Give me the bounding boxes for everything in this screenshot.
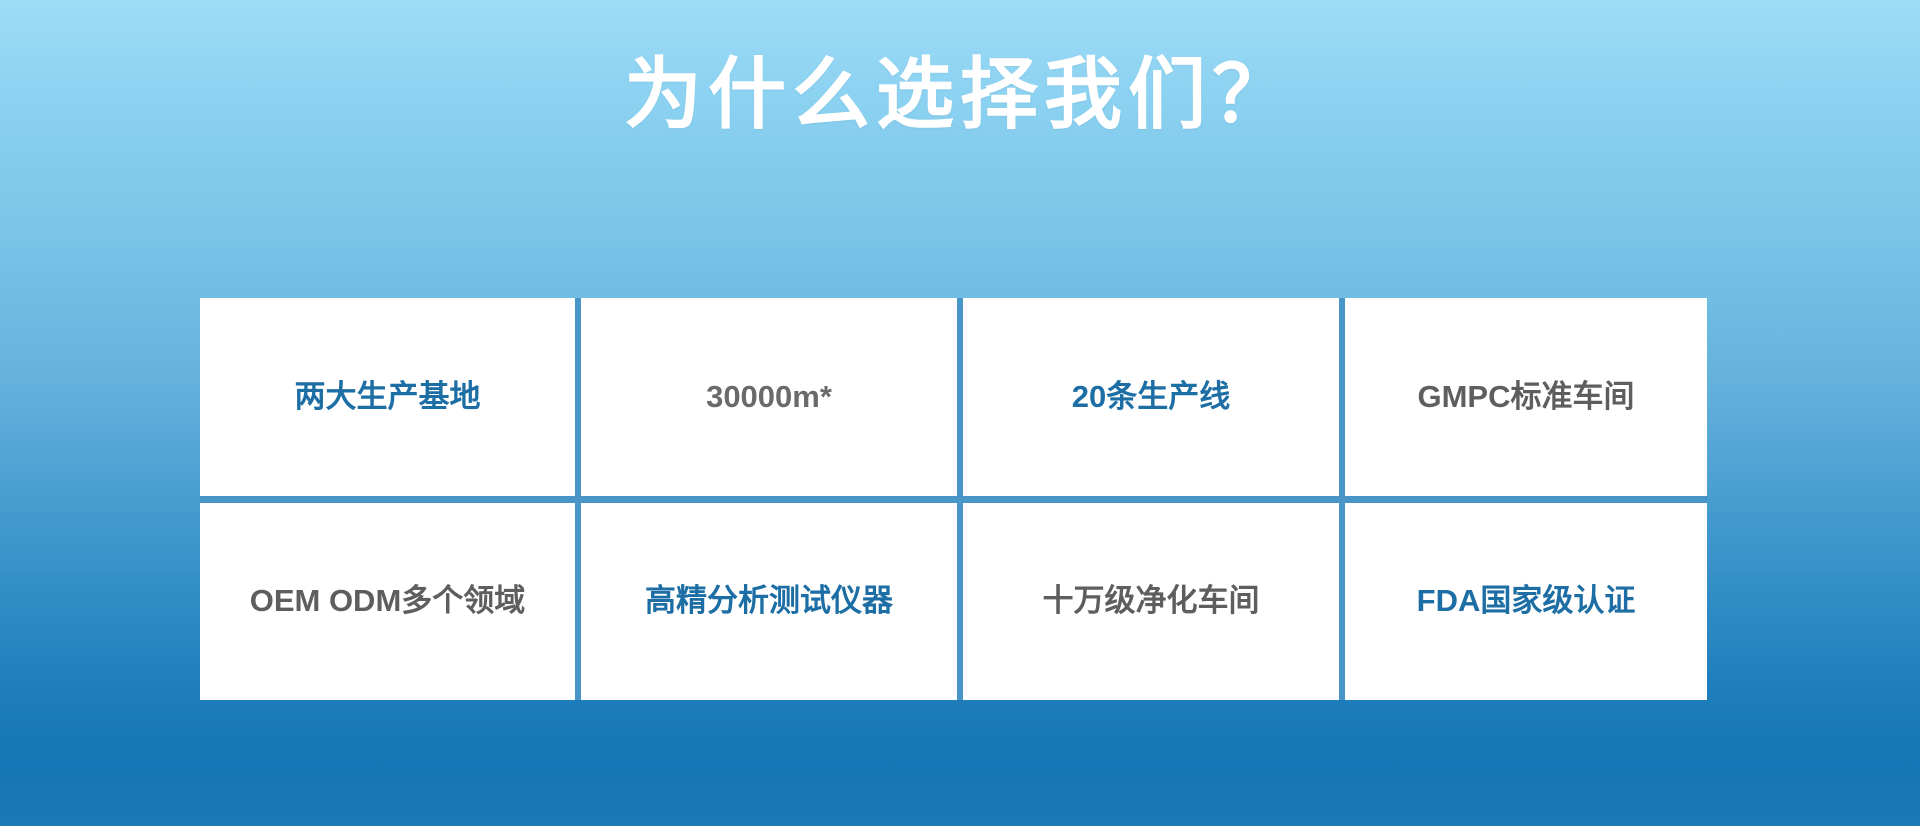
feature-cell-production-lines[interactable]: 20条生产线	[963, 298, 1339, 496]
feature-cell-gmpc-workshop[interactable]: GMPC标准车间	[1345, 298, 1707, 496]
page-title: 为什么选择我们？	[0, 46, 1920, 144]
row-divider	[200, 496, 1707, 503]
table-row: OEM ODM多个领域 高精分析测试仪器 十万级净化车间 FDA国家级认证	[200, 503, 1707, 701]
feature-cell-two-production-bases[interactable]: 两大生产基地	[200, 298, 575, 496]
feature-cell-fda-certification[interactable]: FDA国家级认证	[1345, 503, 1707, 701]
feature-cell-area[interactable]: 30000m*	[581, 298, 957, 496]
feature-table: 两大生产基地 30000m* 20条生产线 GMPC标准车间 OEM ODM多个…	[200, 298, 1707, 700]
feature-cell-oem-odm[interactable]: OEM ODM多个领域	[200, 503, 575, 701]
feature-cell-cleanroom[interactable]: 十万级净化车间	[963, 503, 1339, 701]
table-row: 两大生产基地 30000m* 20条生产线 GMPC标准车间	[200, 298, 1707, 496]
feature-cell-analysis-instruments[interactable]: 高精分析测试仪器	[581, 503, 957, 701]
